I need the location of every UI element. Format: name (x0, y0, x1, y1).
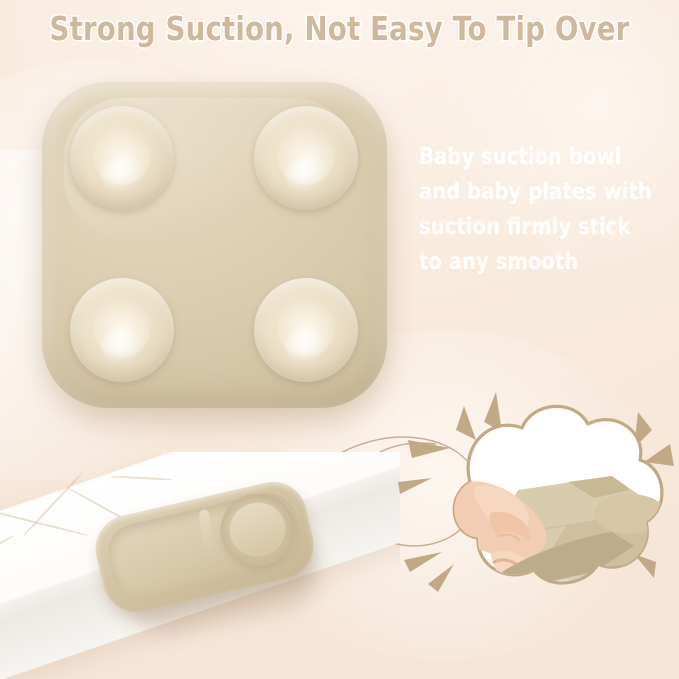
suction-cup-bottom-left (70, 278, 174, 382)
page-title: Strong Suction, Not Easy To Tip Over (24, 9, 655, 49)
suction-mat-body (42, 82, 387, 408)
cloud-frame-icon (398, 386, 679, 636)
marble-vein (0, 505, 88, 536)
description-paragraph: Baby suction bowl and baby plates with s… (419, 140, 657, 280)
product-image-canvas: Strong Suction, Not Easy To Tip Over Bab… (0, 0, 679, 679)
description-line-1: Baby suction bowl (419, 140, 657, 175)
suction-cup-bottom-right (254, 278, 358, 382)
cloud-demo-scene (398, 386, 679, 636)
marble-vein (112, 475, 172, 480)
suction-mat-product-photo (42, 82, 387, 412)
description-line-3: suction firmly stick (419, 210, 657, 245)
suction-cup-top-right (254, 106, 358, 210)
description-line-4: to any smooth (419, 245, 657, 280)
suction-cup-top-left (70, 106, 174, 210)
marble-counter-scene (0, 452, 400, 679)
description-line-2: and baby plates with (419, 175, 657, 210)
marble-vein (0, 535, 13, 572)
